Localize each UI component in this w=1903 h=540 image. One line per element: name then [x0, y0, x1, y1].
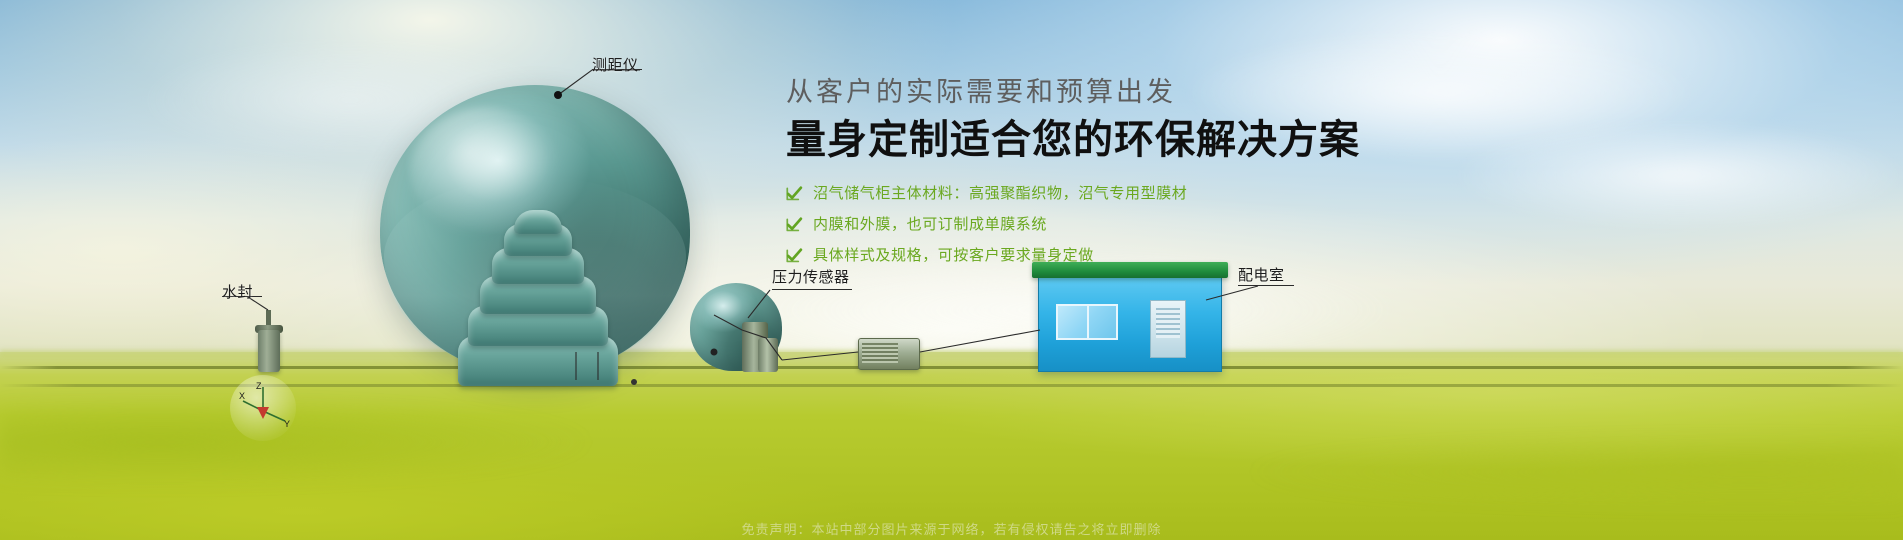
- svg-text:Y: Y: [284, 419, 290, 429]
- check-icon: [786, 185, 803, 202]
- label-water-seal: 水封: [222, 285, 253, 300]
- svg-text:Z: Z: [256, 381, 262, 391]
- bullet-item: 具体样式及规格，可按客户要求量身定做: [786, 247, 1346, 264]
- hero-bullet-list: 沼气储气柜主体材料：高强聚酯织物，沼气专用型膜材 内膜和外膜，也可订制成单膜系统…: [786, 185, 1346, 264]
- bullet-text: 沼气储气柜主体材料：高强聚酯织物，沼气专用型膜材: [813, 186, 1187, 201]
- check-icon: [786, 216, 803, 233]
- hero-subtitle: 从客户的实际需要和预算出发: [786, 78, 1346, 108]
- building-door-panel: [1156, 308, 1180, 338]
- hero-banner: 测距仪 水封 压力传感器 配电室 Z X Y 从客户的实际需要和预算出发 量身定…: [0, 0, 1903, 540]
- water-seal-unit: [258, 330, 280, 372]
- pressure-sensor-unit-secondary: [758, 338, 778, 372]
- check-icon: [786, 247, 803, 264]
- disclaimer-text: 免责声明：本站中部分图片来源于网络，若有侵权请告之将立即删除: [0, 519, 1903, 538]
- bullet-item: 内膜和外膜，也可订制成单膜系统: [786, 216, 1346, 233]
- pressure-sensor-leader-rule: [772, 289, 852, 290]
- building-window: [1056, 304, 1118, 340]
- biogas-dome: [380, 85, 690, 375]
- distribution-room-leader-rule: [1238, 285, 1294, 286]
- svg-text:X: X: [239, 391, 245, 401]
- hero-copy: 从客户的实际需要和预算出发 量身定制适合您的环保解决方案 沼气储气柜主体材料：高…: [786, 78, 1346, 278]
- cloud-far-right: [1450, 120, 1903, 230]
- horizon-line: [0, 350, 1903, 356]
- bullet-item: 沼气储气柜主体材料：高强聚酯织物，沼气专用型膜材: [786, 185, 1346, 202]
- dome-specular-highlight: [410, 107, 560, 237]
- bullet-text: 具体样式及规格，可按客户要求量身定做: [813, 248, 1094, 263]
- bullet-text: 内膜和外膜，也可订制成单膜系统: [813, 217, 1047, 232]
- ground-pipe-upper: [0, 366, 1903, 369]
- hero-headline: 量身定制适合您的环保解决方案: [786, 117, 1346, 163]
- label-rangefinder: 测距仪: [592, 58, 639, 73]
- axis-gizmo: Z X Y: [230, 375, 296, 441]
- blower-grill: [862, 343, 898, 363]
